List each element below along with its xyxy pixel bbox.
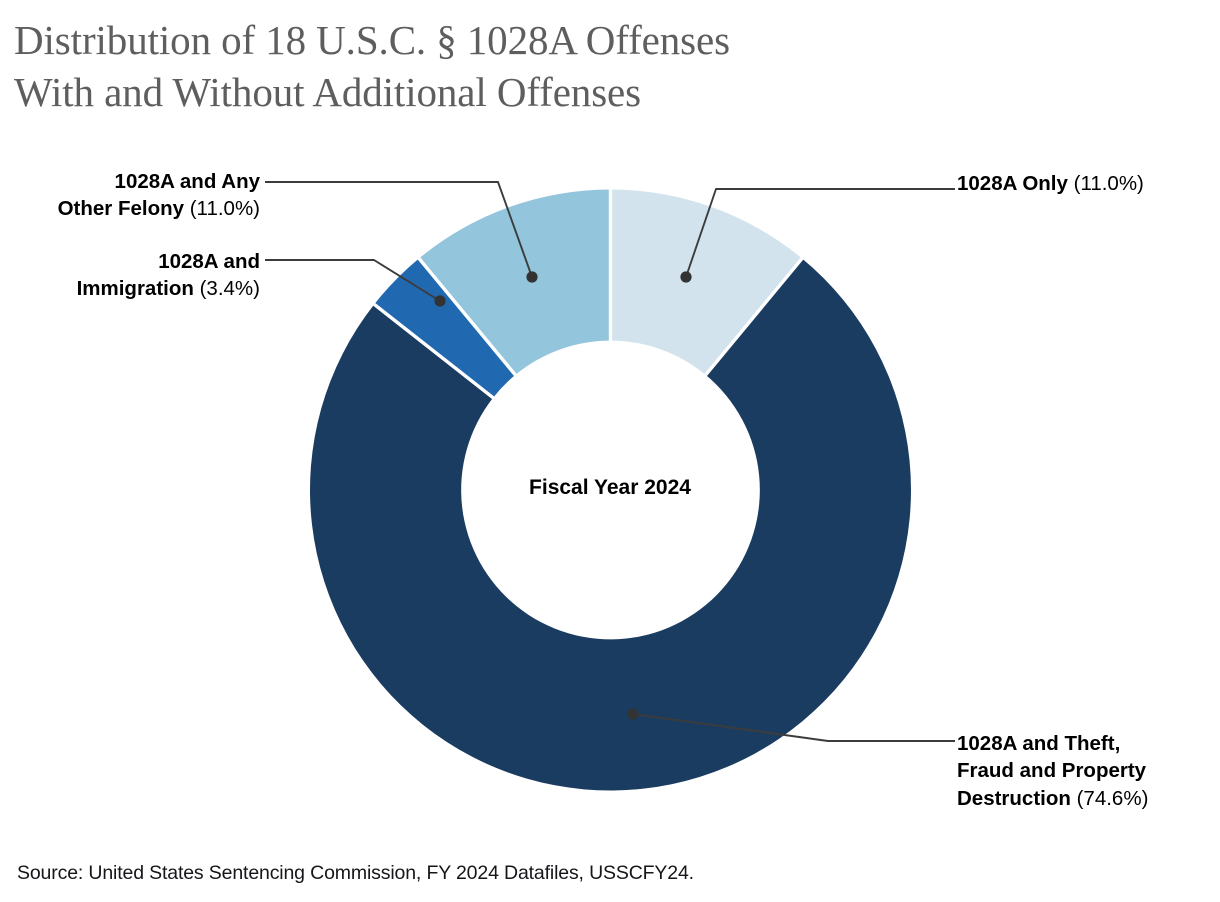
source-note: Source: United States Sentencing Commiss…: [17, 862, 694, 885]
callout-label-immigration: 1028A and Immigration (3.4%): [10, 248, 260, 303]
callout-name-immigration: 1028A and: [158, 250, 260, 273]
donut-center-label: Fiscal Year 2024: [460, 476, 760, 500]
callout-name-theft-3: Destruction: [957, 787, 1071, 810]
callout-label-1028a-only: 1028A Only (11.0%): [957, 170, 1213, 197]
callout-pct-other-felony: (11.0%): [190, 197, 260, 220]
callout-name-other-felony-2: Other Felony: [58, 197, 184, 220]
leader-dot-1028a-and-immigration: [434, 295, 445, 306]
callout-pct-theft: (74.6%): [1077, 787, 1149, 810]
chart-canvas: Distribution of 18 U.S.C. § 1028A Offens…: [0, 0, 1220, 902]
callout-label-other-felony: 1028A and Any Other Felony (11.0%): [10, 168, 260, 223]
leader-dot-1028a-and-theft: [627, 708, 638, 719]
callout-name-theft-1: 1028A and Theft,: [957, 732, 1120, 755]
callout-label-theft: 1028A and Theft, Fraud and Property Dest…: [957, 730, 1209, 812]
callout-pct-1028a-only: (11.0%): [1074, 172, 1144, 195]
callout-name-1028a-only: 1028A Only: [957, 172, 1068, 195]
leader-dot-1028a-only: [680, 271, 691, 282]
leader-dot-1028a-and-any-other-felony: [526, 271, 537, 282]
callout-pct-immigration: (3.4%): [200, 277, 260, 300]
callout-name-immigration-2: Immigration: [77, 277, 194, 300]
callout-name-other-felony: 1028A and Any: [115, 170, 260, 193]
callout-name-theft-2: Fraud and Property: [957, 759, 1146, 782]
